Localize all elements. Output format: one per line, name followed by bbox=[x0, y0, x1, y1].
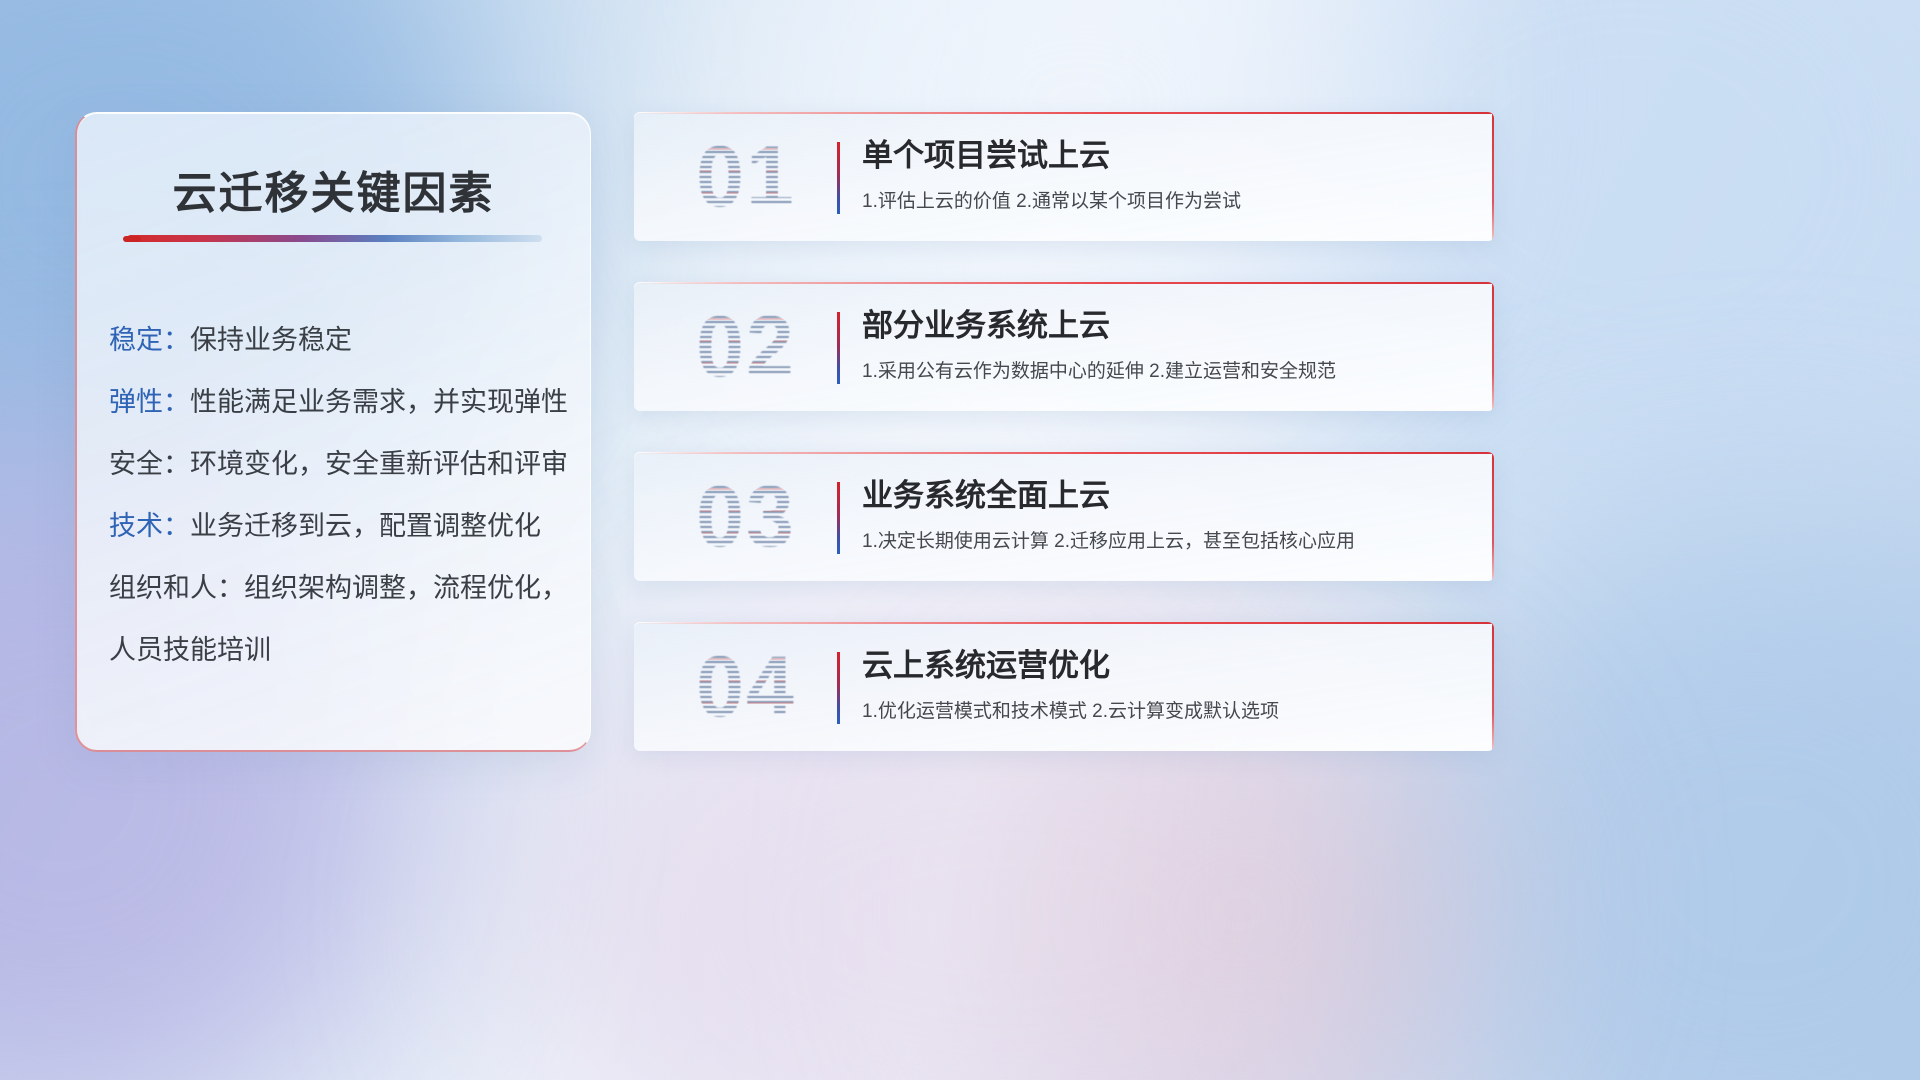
stage-number-watermark: 02 bbox=[656, 296, 836, 398]
factor-label: 安全： bbox=[109, 449, 190, 479]
factor-text: 人员技能培训 bbox=[109, 635, 271, 665]
key-factors-panel: 云迁移关键因素 稳定：保持业务稳定 弹性：性能满足业务需求，并实现弹性 安全：环… bbox=[75, 112, 591, 752]
factor-label: 技术： bbox=[109, 511, 190, 541]
stage-card-04[interactable]: 04 04 云上系统运营优化 1.优化运营模式和技术模式 2.云计算变成默认选项 bbox=[634, 622, 1494, 751]
stage-card-body: 部分业务系统上云 1.采用公有云作为数据中心的延伸 2.建立运营和安全规范 bbox=[862, 304, 1470, 386]
list-item: 稳定：保持业务稳定 bbox=[109, 309, 572, 371]
list-item: 安全：环境变化，安全重新评估和评审 bbox=[109, 433, 572, 495]
stage-description: 1.采用公有云作为数据中心的延伸 2.建立运营和安全规范 bbox=[862, 358, 1470, 386]
title-underline-rule bbox=[127, 235, 542, 242]
factor-label: 组织和人： bbox=[109, 573, 244, 603]
list-item: 人员技能培训 bbox=[109, 619, 572, 681]
list-item: 弹性：性能满足业务需求，并实现弹性 bbox=[109, 371, 572, 433]
factor-text: 性能满足业务需求，并实现弹性 bbox=[190, 387, 568, 417]
stage-card-body: 业务系统全面上云 1.决定长期使用云计算 2.迁移应用上云，甚至包括核心应用 bbox=[862, 474, 1470, 556]
list-item: 技术：业务迁移到云，配置调整优化 bbox=[109, 495, 572, 557]
stage-title: 云上系统运营优化 bbox=[862, 644, 1470, 688]
stage-description: 1.决定长期使用云计算 2.迁移应用上云，甚至包括核心应用 bbox=[862, 528, 1470, 556]
factor-label: 弹性： bbox=[109, 387, 190, 417]
stage-number-watermark: 03 bbox=[656, 466, 836, 568]
key-factors-list: 稳定：保持业务稳定 弹性：性能满足业务需求，并实现弹性 安全：环境变化，安全重新… bbox=[109, 309, 572, 681]
card-accent-divider bbox=[837, 652, 840, 724]
list-item: 组织和人：组织架构调整，流程优化， bbox=[109, 557, 572, 619]
factor-text: 业务迁移到云，配置调整优化 bbox=[190, 511, 541, 541]
factor-label: 稳定： bbox=[109, 325, 190, 355]
stage-number-watermark: 04 bbox=[656, 636, 836, 738]
stage-card-01[interactable]: 01 01 单个项目尝试上云 1.评估上云的价值 2.通常以某个项目作为尝试 bbox=[634, 112, 1494, 241]
stage-card-02[interactable]: 02 02 部分业务系统上云 1.采用公有云作为数据中心的延伸 2.建立运营和安… bbox=[634, 282, 1494, 411]
stage-card-body: 单个项目尝试上云 1.评估上云的价值 2.通常以某个项目作为尝试 bbox=[862, 134, 1470, 216]
stage-card-body: 云上系统运营优化 1.优化运营模式和技术模式 2.云计算变成默认选项 bbox=[862, 644, 1470, 726]
page-title: 云迁移关键因素 bbox=[77, 157, 590, 221]
factor-text: 组织架构调整，流程优化， bbox=[244, 573, 568, 603]
stage-title: 单个项目尝试上云 bbox=[862, 134, 1470, 178]
card-accent-divider bbox=[837, 482, 840, 554]
stage-card-03[interactable]: 03 03 业务系统全面上云 1.决定长期使用云计算 2.迁移应用上云，甚至包括… bbox=[634, 452, 1494, 581]
stage-title: 业务系统全面上云 bbox=[862, 474, 1470, 518]
stage-number-watermark: 01 bbox=[656, 126, 836, 228]
factor-text: 环境变化，安全重新评估和评审 bbox=[190, 449, 568, 479]
stage-title: 部分业务系统上云 bbox=[862, 304, 1470, 348]
stage-card-list: 01 01 单个项目尝试上云 1.评估上云的价值 2.通常以某个项目作为尝试 0… bbox=[634, 112, 1854, 792]
card-accent-divider bbox=[837, 142, 840, 214]
factor-text: 保持业务稳定 bbox=[190, 325, 352, 355]
stage-description: 1.优化运营模式和技术模式 2.云计算变成默认选项 bbox=[862, 698, 1470, 726]
card-accent-divider bbox=[837, 312, 840, 384]
stage-description: 1.评估上云的价值 2.通常以某个项目作为尝试 bbox=[862, 188, 1470, 216]
